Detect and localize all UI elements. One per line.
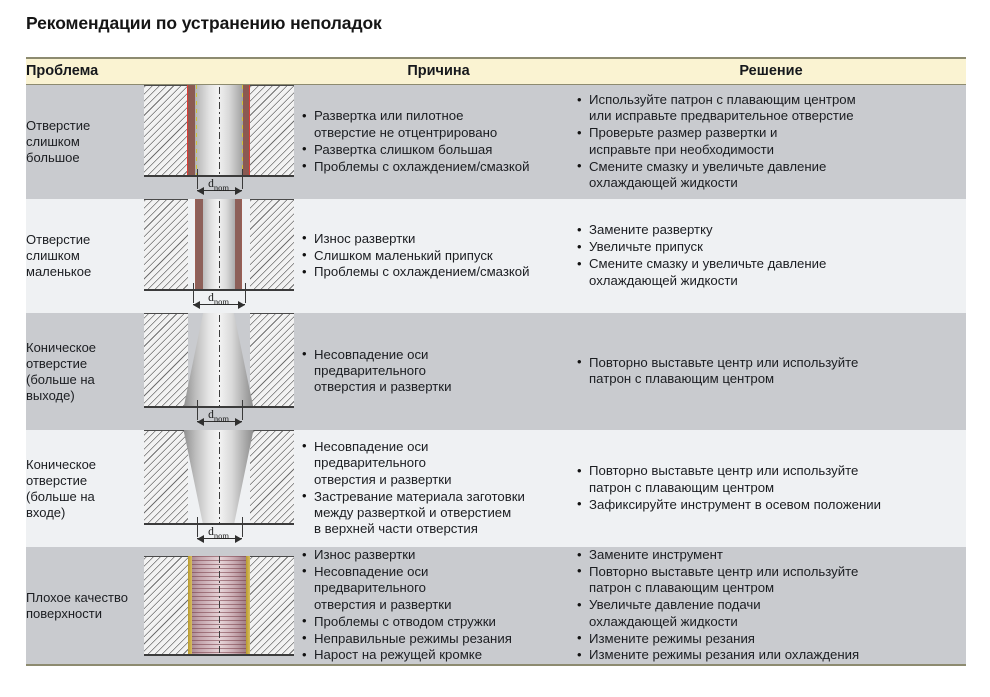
hatched-material-left <box>144 556 188 656</box>
cause-list: Развертка или пилотное отверстие не отце… <box>301 108 576 175</box>
list-item: Используйте патрон с плавающим центром и… <box>576 92 966 125</box>
cause-list: Несовпадение оси предварительного отверс… <box>301 439 576 538</box>
list-item: Зафиксируйте инструмент в осевом положен… <box>576 497 966 513</box>
row-cause-cell: Развертка или пилотное отверстие не отце… <box>301 85 576 200</box>
list-item: Слишком маленький припуск <box>301 248 576 264</box>
diagram-baseline <box>144 654 294 656</box>
column-header-cause: Причина <box>301 58 576 85</box>
list-item: Износ развертки <box>301 231 576 247</box>
solution-list: Используйте патрон с плавающим центром и… <box>576 92 966 191</box>
hatched-material-left <box>144 430 188 525</box>
header-row: Проблема Причина Решение <box>26 58 966 85</box>
hatched-material-right <box>250 430 294 525</box>
list-item: Проблемы с отводом стружки <box>301 614 576 630</box>
list-item: Смените смазку и увеличьте давление охла… <box>576 256 966 289</box>
list-item: Увеличьте давление подачи охлаждающей жи… <box>576 597 966 630</box>
list-item: Повторно выставьте центр или используйте… <box>576 564 966 597</box>
table-row: Отверстие слишком маленькое <box>26 199 966 313</box>
row-solution-cell: Замените развертку Увеличьте припуск Сме… <box>576 199 966 313</box>
row-diagram-cell: dnom <box>136 313 301 430</box>
row-cause-cell: Износ развертки Несовпадение оси предвар… <box>301 547 576 665</box>
list-item: Измените режимы резания <box>576 631 966 647</box>
list-item: Повторно выставьте центр или используйте… <box>576 463 966 496</box>
bore-edge-right <box>241 199 243 291</box>
row-cause-cell: Несовпадение оси предварительного отверс… <box>301 430 576 547</box>
solution-list: Замените инструмент Повторно выставьте ц… <box>576 547 966 664</box>
table-header: Проблема Причина Решение <box>26 58 966 85</box>
cause-list: Износ развертки Слишком маленький припус… <box>301 231 576 281</box>
dimension-group: dnom <box>144 525 294 547</box>
hatched-material-left <box>144 313 188 408</box>
diagram-hole-too-small: dnom <box>144 199 294 313</box>
row-cause-cell: Несовпадение оси предварительного отверс… <box>301 313 576 430</box>
list-item: Замените инструмент <box>576 547 966 563</box>
page-title: Рекомендации по устранению неполадок <box>26 13 382 34</box>
list-item: Развертка или пилотное отверстие не отце… <box>301 108 576 141</box>
row-problem-label: Коническое отверстие (больше на выходе) <box>26 313 136 430</box>
center-axis-line <box>219 87 220 175</box>
diagram-poor-surface-finish <box>144 556 294 656</box>
dimension-group: dnom <box>144 408 294 430</box>
troubleshooting-table-wrapper: Проблема Причина Решение Отверстие слишк… <box>26 57 966 666</box>
hatched-material-right <box>250 199 294 291</box>
table-row: Отверстие слишком большое <box>26 85 966 200</box>
column-header-solution: Решение <box>576 58 966 85</box>
dimension-label: dnom <box>144 409 294 423</box>
hatched-material-right <box>250 556 294 656</box>
nominal-dashed-right <box>242 85 243 177</box>
list-item: Несовпадение оси предварительного отверс… <box>301 439 576 488</box>
center-axis-line <box>219 432 220 523</box>
list-item: Проверьте размер развертки и исправьте п… <box>576 125 966 158</box>
bore-edge-right <box>246 556 250 656</box>
center-axis-line <box>219 315 220 406</box>
list-item: Неправильные режимы резания <box>301 631 576 647</box>
table-row: Коническое отверстие (больше на входе) <box>26 430 966 547</box>
bore-edge-left <box>187 85 189 177</box>
list-item: Проблемы с охлаждением/смазкой <box>301 159 576 175</box>
row-solution-cell: Замените инструмент Повторно выставьте ц… <box>576 547 966 665</box>
row-problem-label: Плохое качество поверхности <box>26 547 136 665</box>
list-item: Проблемы с охлаждением/смазкой <box>301 264 576 280</box>
row-cause-cell: Износ развертки Слишком маленький припус… <box>301 199 576 313</box>
list-item: Увеличьте припуск <box>576 239 966 255</box>
dimension-group: dnom <box>144 177 294 199</box>
hatched-material-right <box>250 313 294 408</box>
diagram-tapered-wider-at-entry: dnom <box>144 430 294 547</box>
list-item: Замените развертку <box>576 222 966 238</box>
list-item: Застревание материала заготовки между ра… <box>301 489 576 538</box>
list-item: Смените смазку и увеличьте давление охла… <box>576 159 966 192</box>
column-header-problem: Проблема <box>26 58 301 85</box>
troubleshooting-page: Рекомендации по устранению неполадок Про… <box>0 0 990 697</box>
hatched-material-left <box>144 85 188 177</box>
dimension-label-nom: nom <box>214 530 229 540</box>
row-solution-cell: Повторно выставьте центр или используйте… <box>576 313 966 430</box>
center-axis-line <box>219 556 220 656</box>
row-solution-cell: Повторно выставьте центр или используйте… <box>576 430 966 547</box>
row-problem-label: Отверстие слишком большое <box>26 85 136 200</box>
bore-edge-left <box>188 556 192 656</box>
row-diagram-cell: dnom <box>136 85 301 200</box>
row-solution-cell: Используйте патрон с плавающим центром и… <box>576 85 966 200</box>
list-item: Измените режимы резания или охлаждения <box>576 647 966 663</box>
dimension-label: dnom <box>144 178 294 192</box>
row-diagram-cell: dnom <box>136 199 301 313</box>
list-item: Несовпадение оси предварительного отверс… <box>301 564 576 613</box>
bore-wall-left <box>196 199 203 291</box>
dimension-label: dnom <box>144 292 294 306</box>
list-item: Развертка слишком большая <box>301 142 576 158</box>
hatched-material-right <box>250 85 294 177</box>
hatched-material-left <box>144 199 188 291</box>
table-row: Коническое отверстие (больше на выходе) <box>26 313 966 430</box>
row-diagram-cell <box>136 547 301 665</box>
cause-list: Несовпадение оси предварительного отверс… <box>301 347 576 396</box>
table-row: Плохое качество поверхности <box>26 547 966 665</box>
diagram-hole-too-large: dnom <box>144 85 294 199</box>
diagram-tapered-wider-at-exit: dnom <box>144 313 294 430</box>
dimension-label-nom: nom <box>214 413 229 423</box>
nominal-dashed-left <box>196 85 197 177</box>
bore-edge-left <box>195 199 197 291</box>
solution-list: Повторно выставьте центр или используйте… <box>576 355 966 388</box>
row-problem-label: Коническое отверстие (больше на входе) <box>26 430 136 547</box>
solution-list: Повторно выставьте центр или используйте… <box>576 463 966 513</box>
cause-list: Износ развертки Несовпадение оси предвар… <box>301 547 576 664</box>
bore-edge-right <box>249 85 251 177</box>
dimension-label-nom: nom <box>214 296 229 306</box>
center-axis-line <box>219 201 220 289</box>
bore-wall-left <box>188 85 195 177</box>
list-item: Нарост на режущей кромке <box>301 647 576 663</box>
list-item: Повторно выставьте центр или используйте… <box>576 355 966 388</box>
dimension-group: dnom <box>144 291 294 313</box>
row-problem-label: Отверстие слишком маленькое <box>26 199 136 313</box>
dimension-label: dnom <box>144 526 294 540</box>
solution-list: Замените развертку Увеличьте припуск Сме… <box>576 222 966 289</box>
dimension-label-nom: nom <box>214 182 229 192</box>
list-item: Износ развертки <box>301 547 576 563</box>
row-diagram-cell: dnom <box>136 430 301 547</box>
list-item: Несовпадение оси предварительного отверс… <box>301 347 576 396</box>
troubleshooting-table: Проблема Причина Решение Отверстие слишк… <box>26 57 966 666</box>
table-body: Отверстие слишком большое <box>26 85 966 666</box>
